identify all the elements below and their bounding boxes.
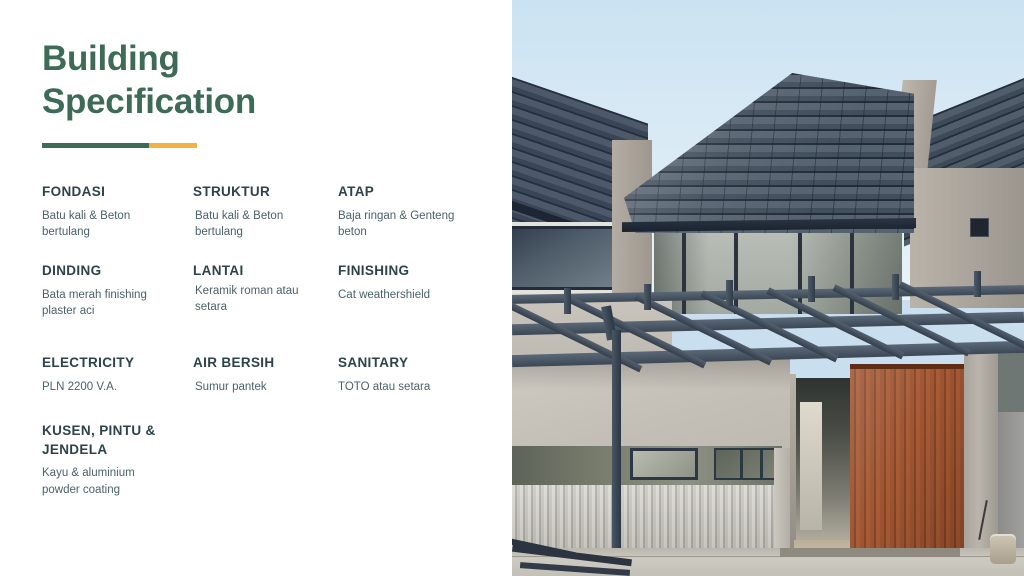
interior-wall-panel (800, 402, 822, 530)
gate-top-rail (850, 364, 968, 369)
spec-heading: AIR BERSIH (193, 354, 343, 373)
window-mullion (740, 448, 743, 480)
specification-grid: FONDASI Batu kali & Beton bertulang STRU… (42, 183, 482, 512)
window-mullion (682, 228, 686, 314)
content-panel: Building Specification FONDASI Batu kali… (0, 0, 512, 576)
spec-body: Batu kali & Beton bertulang (193, 208, 343, 241)
spec-body: Cat weathershield (338, 287, 484, 304)
window-mullion (734, 228, 738, 314)
pergola-post (644, 284, 651, 310)
spec-item-sanitary: SANITARY TOTO atau setara (338, 354, 484, 395)
spec-row: DINDING Bata merah finishing plaster aci… (42, 262, 482, 354)
pergola-post (726, 280, 733, 306)
spec-row: ELECTRICITY PLN 2200 V.A. AIR BERSIH Sum… (42, 354, 482, 422)
pergola-post (564, 288, 571, 314)
spec-body: Kayu & aluminium powder coating (42, 465, 192, 498)
facade-window-frame-2 (714, 448, 778, 480)
spec-item-kusen-pintu-jendela: KUSEN, PINTU & JENDELA Kayu & aluminium … (42, 422, 192, 499)
spec-item-air-bersih: AIR BERSIH Sumur pantek (193, 354, 343, 395)
slide-title: Building Specification (42, 38, 462, 123)
spec-body: Sumur pantek (193, 379, 343, 396)
spec-body: Baja ringan & Genteng beton (338, 208, 484, 241)
facade-window-frame (630, 448, 698, 480)
spec-item-struktur: STRUKTUR Batu kali & Beton bertulang (193, 183, 343, 241)
spec-row: FONDASI Batu kali & Beton bertulang STRU… (42, 183, 482, 262)
gate-highlight (850, 364, 968, 572)
divider-green-segment (42, 143, 149, 148)
spec-row: KUSEN, PINTU & JENDELA Kayu & aluminium … (42, 422, 482, 512)
spec-item-fondasi: FONDASI Batu kali & Beton bertulang (42, 183, 192, 241)
title-line-1: Building (42, 39, 180, 78)
spec-heading: LANTAI (193, 262, 343, 281)
spec-heading: KUSEN, PINTU & JENDELA (42, 422, 192, 459)
spec-item-lantai: LANTAI Keramik roman atau setara (193, 262, 343, 316)
spec-heading: FINISHING (338, 262, 484, 281)
title-line-2: Specification (42, 81, 462, 124)
driveway-kerb (780, 548, 960, 557)
wall-vent-opening (970, 218, 989, 237)
spec-heading: ATAP (338, 183, 484, 202)
spec-heading: FONDASI (42, 183, 192, 202)
page-title: Building Specification (42, 38, 462, 123)
title-divider (42, 143, 197, 148)
pergola-post (974, 271, 981, 297)
spec-heading: SANITARY (338, 354, 484, 373)
pergola-post (892, 274, 899, 300)
spec-item-electricity: ELECTRICITY PLN 2200 V.A. (42, 354, 192, 395)
paint-bucket (990, 534, 1016, 564)
spec-heading: ELECTRICITY (42, 354, 192, 373)
house-photo (512, 0, 1024, 576)
spec-item-atap: ATAP Baja ringan & Genteng beton (338, 183, 484, 241)
spec-body: Bata merah finishing plaster aci (42, 287, 192, 320)
spec-body: PLN 2200 V.A. (42, 379, 192, 396)
left-upper-window (512, 226, 618, 290)
far-right-wall-shadow (998, 352, 1024, 412)
slide-root: Building Specification FONDASI Batu kali… (0, 0, 1024, 576)
spec-body: Keramik roman atau setara (193, 283, 343, 316)
spec-item-dinding: DINDING Bata merah finishing plaster aci (42, 262, 192, 320)
spec-body: TOTO atau setara (338, 379, 484, 396)
pergola-column (612, 330, 621, 576)
spec-heading: STRUKTUR (193, 183, 343, 202)
spec-body: Batu kali & Beton bertulang (42, 208, 192, 241)
spec-heading: DINDING (42, 262, 192, 281)
window-mullion (760, 448, 763, 480)
pergola-post (808, 276, 815, 302)
divider-orange-segment (149, 143, 197, 148)
spec-item-finishing: FINISHING Cat weathershield (338, 262, 484, 303)
